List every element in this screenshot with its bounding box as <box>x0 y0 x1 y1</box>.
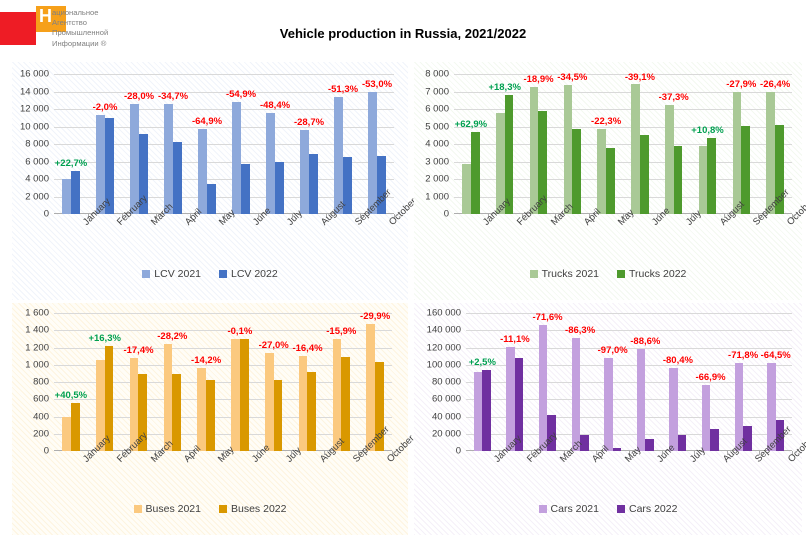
bar-series-2[interactable] <box>645 439 653 451</box>
y-axis-tick-label: 6 000 <box>425 104 449 115</box>
growth-label: -16,4% <box>292 343 322 354</box>
x-axis-tick-label: January <box>81 220 89 228</box>
y-axis-tick-label: 1 400 <box>25 325 49 336</box>
bar-series-1[interactable] <box>733 92 742 214</box>
growth-label: -71,6% <box>532 312 562 323</box>
y-axis-tick-label: 140 000 <box>427 325 461 336</box>
bar-series-1[interactable] <box>334 97 343 214</box>
x-axis-tick-label: April <box>182 457 190 465</box>
growth-label: -14,2% <box>191 355 221 366</box>
bar-series-2[interactable] <box>274 380 283 451</box>
y-axis-tick-label: 2 000 <box>25 191 49 202</box>
x-axis-tick-label: March <box>549 220 557 228</box>
bar-series-1[interactable] <box>530 87 539 214</box>
y-axis-tick-label: 0 <box>444 209 449 220</box>
legend-item[interactable]: Buses 2022 <box>219 503 286 515</box>
x-axis-tick-label: September <box>353 220 361 228</box>
x-axis-tick-label: September <box>351 457 359 465</box>
legend-label: Cars 2022 <box>629 503 677 515</box>
legend-swatch <box>617 270 625 278</box>
y-axis-tick-label: 600 <box>33 394 49 405</box>
growth-label: -11,1% <box>500 334 530 345</box>
bar-group[interactable] <box>727 313 760 451</box>
y-axis-tick-label: 10 000 <box>20 121 49 132</box>
bar-series-2[interactable] <box>71 403 80 451</box>
x-axis-tick-label: June <box>650 220 658 228</box>
bar-series-1[interactable] <box>198 129 207 214</box>
x-axis-tick-label: February <box>525 457 533 465</box>
chart-cars-plot: 020 00040 00060 00080 000100 000120 0001… <box>414 303 802 535</box>
bar-series-2[interactable] <box>640 135 649 214</box>
chart-legend: LCV 2021LCV 2022 <box>12 268 408 280</box>
x-axis-tick-label: July <box>285 220 293 228</box>
x-axis-tick-label: September <box>753 457 761 465</box>
x-axis-tick-label: April <box>582 220 590 228</box>
legend-label: Cars 2021 <box>551 503 599 515</box>
bar-group[interactable] <box>691 74 725 214</box>
bar-group[interactable] <box>454 74 488 214</box>
y-axis-tick-label: 1 600 <box>25 308 49 319</box>
x-axis-tick-label: March <box>149 457 157 465</box>
bar-series-2[interactable] <box>309 154 318 214</box>
bar-series-1[interactable] <box>604 358 612 451</box>
y-axis-tick-label: 14 000 <box>20 86 49 97</box>
y-axis-labels: 020 00040 00060 00080 000100 000120 0001… <box>413 313 461 451</box>
growth-label: +16,3% <box>88 333 121 344</box>
chart-trucks-plot: 01 0002 0003 0004 0005 0006 0007 0008 00… <box>414 62 802 300</box>
bar-series-container: +62,9%+18,3%-18,9%-34,5%-22,3%-39,1%-37,… <box>454 74 792 214</box>
bar-group[interactable] <box>466 313 499 451</box>
bar-series-1[interactable] <box>702 385 710 451</box>
x-axis-tick-label: March <box>558 457 566 465</box>
legend-swatch <box>219 505 227 513</box>
logo-abbr: НАПИ <box>9 2 26 8</box>
bar-series-1[interactable] <box>631 84 640 214</box>
growth-label: +18,3% <box>488 82 521 93</box>
growth-label: -64,5% <box>761 350 791 361</box>
bar-series-1[interactable] <box>197 368 206 451</box>
bar-series-1[interactable] <box>300 130 309 214</box>
legend-item[interactable]: Trucks 2021 <box>530 268 599 280</box>
growth-label: -28,0% <box>124 91 154 102</box>
y-axis-tick-label: 7 000 <box>425 86 449 97</box>
bar-series-2[interactable] <box>613 448 621 451</box>
legend-swatch <box>539 505 547 513</box>
x-axis-tick-label: January <box>481 220 489 228</box>
legend-label: Trucks 2022 <box>629 268 686 280</box>
legend-label: Buses 2022 <box>231 503 286 515</box>
legend-item[interactable]: Trucks 2022 <box>617 268 686 280</box>
growth-label: -66,9% <box>695 372 725 383</box>
growth-label: -27,9% <box>726 79 756 90</box>
bar-group[interactable] <box>555 74 589 214</box>
bar-series-2[interactable] <box>240 339 249 451</box>
growth-label: -0,1% <box>227 326 252 337</box>
y-axis-tick-label: 400 <box>33 411 49 422</box>
growth-label: -80,4% <box>663 355 693 366</box>
legend-label: Buses 2021 <box>146 503 201 515</box>
bar-series-1[interactable] <box>299 356 308 451</box>
x-axis-tick-label: August <box>319 220 327 228</box>
bar-series-container: +2,5%-11,1%-71,6%-86,3%-97,0%-88,6%-80,4… <box>466 313 792 451</box>
bar-series-1[interactable] <box>564 85 573 215</box>
y-axis-labels: 02004006008001 0001 2001 4001 600 <box>11 313 49 451</box>
y-axis-tick-label: 8 000 <box>25 139 49 150</box>
x-axis-tick-label: February <box>115 457 123 465</box>
page-title: Vehicle production in Russia, 2021/2022 <box>0 26 806 41</box>
bar-group[interactable] <box>623 74 657 214</box>
bar-group[interactable] <box>522 74 556 214</box>
x-axis-tick-label: October <box>785 220 793 228</box>
growth-label: +62,9% <box>455 119 488 130</box>
bar-series-1[interactable] <box>164 104 173 214</box>
y-axis-tick-label: 20 000 <box>432 428 461 439</box>
y-axis-tick-label: 800 <box>33 377 49 388</box>
x-axis-tick-label: June <box>655 457 663 465</box>
growth-label: -88,6% <box>630 336 660 347</box>
growth-label: -97,0% <box>598 345 628 356</box>
y-axis-tick-label: 6 000 <box>25 156 49 167</box>
growth-label: -54,9% <box>226 89 256 100</box>
legend-swatch <box>134 505 142 513</box>
growth-label: -2,0% <box>93 102 118 113</box>
bar-group[interactable] <box>531 313 564 451</box>
growth-label: -18,9% <box>523 74 553 85</box>
x-axis-tick-label: July <box>684 220 692 228</box>
bar-series-2[interactable] <box>173 142 182 214</box>
x-axis-tick-label: April <box>590 457 598 465</box>
x-axis-tick-label: February <box>515 220 523 228</box>
growth-label: -22,3% <box>591 116 621 127</box>
x-axis-tick-label: January <box>492 457 500 465</box>
bar-series-1[interactable] <box>231 339 240 451</box>
growth-label: -15,9% <box>326 326 356 337</box>
bar-series-2[interactable] <box>606 148 615 214</box>
x-axis-tick-label: October <box>385 457 393 465</box>
growth-label: -86,3% <box>565 325 595 336</box>
y-axis-tick-label: 12 000 <box>20 104 49 115</box>
y-axis-tick-label: 5 000 <box>425 121 449 132</box>
bar-series-1[interactable] <box>699 146 708 214</box>
legend-item[interactable]: Cars 2021 <box>539 503 599 515</box>
bar-series-2[interactable] <box>707 138 716 214</box>
bar-series-1[interactable] <box>366 324 375 451</box>
bar-series-2[interactable] <box>172 374 181 451</box>
legend-label: LCV 2021 <box>154 268 201 280</box>
y-axis-tick-label: 160 000 <box>427 308 461 319</box>
y-axis-tick-label: 1 000 <box>425 191 449 202</box>
y-axis-tick-label: 0 <box>44 446 49 457</box>
bar-series-1[interactable] <box>669 368 677 451</box>
bar-series-1[interactable] <box>164 344 173 451</box>
bar-group[interactable] <box>88 74 122 214</box>
bar-series-1[interactable] <box>665 105 674 214</box>
growth-label: -64,9% <box>192 116 222 127</box>
bar-series-1[interactable] <box>62 417 71 451</box>
bar-series-1[interactable] <box>474 372 482 451</box>
y-axis-tick-label: 80 000 <box>432 377 461 388</box>
growth-label: -34,7% <box>158 91 188 102</box>
chart-legend: Trucks 2021Trucks 2022 <box>414 268 802 280</box>
bar-series-1[interactable] <box>462 164 471 214</box>
bar-series-1[interactable] <box>597 129 606 214</box>
y-axis-tick-label: 1 000 <box>25 359 49 370</box>
growth-label: -34,5% <box>557 72 587 83</box>
growth-label: -17,4% <box>123 345 153 356</box>
growth-label: +2,5% <box>469 357 496 368</box>
x-axis-tick-label: August <box>721 457 729 465</box>
bar-series-2[interactable] <box>471 132 480 214</box>
y-axis-tick-label: 4 000 <box>425 139 449 150</box>
chart-panel-cars: 020 00040 00060 00080 000100 000120 0001… <box>414 303 802 535</box>
legend-swatch <box>530 270 538 278</box>
growth-label: +22,7% <box>55 158 88 169</box>
bar-series-2[interactable] <box>741 126 750 214</box>
growth-label: -29,9% <box>360 311 390 322</box>
bar-series-1[interactable] <box>266 113 275 214</box>
bar-series-1[interactable] <box>232 102 241 214</box>
bar-group[interactable] <box>596 313 629 451</box>
bar-series-2[interactable] <box>207 184 216 214</box>
bar-series-2[interactable] <box>341 357 350 451</box>
x-axis-tick-label: June <box>250 457 258 465</box>
bar-series-2[interactable] <box>71 171 80 214</box>
y-axis-tick-label: 60 000 <box>432 394 461 405</box>
bar-series-container: +22,7%-2,0%-28,0%-34,7%-64,9%-54,9%-48,4… <box>54 74 394 214</box>
x-axis-tick-label: May <box>616 220 624 228</box>
y-axis-tick-label: 3 000 <box>425 156 449 167</box>
legend-swatch <box>617 505 625 513</box>
logo-text-line-1: ациональное <box>52 8 108 18</box>
bar-series-2[interactable] <box>482 370 490 451</box>
x-axis-tick-label: July <box>688 457 696 465</box>
x-axis-tick-label: May <box>217 220 225 228</box>
x-axis-tick-label: April <box>183 220 191 228</box>
x-axis-tick-label: October <box>387 220 395 228</box>
y-axis-tick-label: 0 <box>44 209 49 220</box>
chart-panel-buses: 02004006008001 0001 2001 4001 600+40,5%+… <box>12 303 408 535</box>
growth-label: +10,8% <box>691 125 724 136</box>
y-axis-tick-label: 1 200 <box>25 342 49 353</box>
legend-swatch <box>219 270 227 278</box>
x-axis-tick-label: March <box>149 220 157 228</box>
bar-series-2[interactable] <box>674 146 683 214</box>
growth-label: +40,5% <box>55 390 88 401</box>
x-axis-tick-label: September <box>751 220 759 228</box>
chart-legend: Buses 2021Buses 2022 <box>12 503 408 515</box>
bar-group[interactable] <box>488 74 522 214</box>
y-axis-labels: 02 0004 0006 0008 00010 00012 00014 0001… <box>11 74 49 214</box>
x-axis-tick-label: May <box>216 457 224 465</box>
bar-group[interactable] <box>258 74 292 214</box>
bar-group[interactable] <box>257 313 291 451</box>
legend-swatch <box>142 270 150 278</box>
y-axis-tick-label: 40 000 <box>432 411 461 422</box>
legend-item[interactable]: LCV 2022 <box>219 268 278 280</box>
bar-series-2[interactable] <box>275 162 284 214</box>
legend-label: Trucks 2021 <box>542 268 599 280</box>
bar-series-1[interactable] <box>539 325 547 451</box>
bar-group[interactable] <box>629 313 662 451</box>
bar-series-1[interactable] <box>62 179 71 214</box>
growth-label: -51,3% <box>328 84 358 95</box>
x-axis-tick-label: August <box>718 220 726 228</box>
legend-item[interactable]: Buses 2021 <box>134 503 201 515</box>
growth-label: -27,0% <box>259 340 289 351</box>
growth-label: -71,8% <box>728 350 758 361</box>
bar-series-1[interactable] <box>265 353 274 451</box>
y-axis-labels: 01 0002 0003 0004 0005 0006 0007 0008 00… <box>413 74 449 214</box>
bar-series-2[interactable] <box>241 164 250 214</box>
legend-item[interactable]: Cars 2022 <box>617 503 677 515</box>
legend-label: LCV 2022 <box>231 268 278 280</box>
chart-lcv-plot: 02 0004 0006 0008 00010 00012 00014 0001… <box>12 62 408 300</box>
y-axis-tick-label: 100 000 <box>427 359 461 370</box>
chart-panel-lcv: 02 0004 0006 0008 00010 00012 00014 0001… <box>12 62 408 300</box>
bar-group[interactable] <box>292 74 326 214</box>
chart-panel-trucks: 01 0002 0003 0004 0005 0006 0007 0008 00… <box>414 62 802 300</box>
bar-group[interactable] <box>54 74 88 214</box>
bar-series-2[interactable] <box>710 429 718 451</box>
chart-legend: Cars 2021Cars 2022 <box>414 503 802 515</box>
growth-label: -28,2% <box>157 331 187 342</box>
bar-series-2[interactable] <box>572 129 581 214</box>
x-axis-tick-label: July <box>284 457 292 465</box>
legend-item[interactable]: LCV 2021 <box>142 268 201 280</box>
y-axis-tick-label: 2 000 <box>425 174 449 185</box>
y-axis-tick-label: 200 <box>33 428 49 439</box>
growth-label: -39,1% <box>625 72 655 83</box>
bar-series-1[interactable] <box>637 349 645 451</box>
bar-group[interactable] <box>122 313 156 451</box>
bar-group[interactable] <box>291 313 325 451</box>
bar-series-1[interactable] <box>572 338 580 451</box>
y-axis-tick-label: 0 <box>456 446 461 457</box>
x-axis-tick-label: January <box>81 457 89 465</box>
bar-series-2[interactable] <box>678 435 686 451</box>
logo-letter: Н <box>39 7 52 25</box>
bar-group[interactable] <box>662 313 695 451</box>
x-axis-tick-label: May <box>623 457 631 465</box>
x-axis-tick-label: February <box>115 220 123 228</box>
growth-label: -28,7% <box>294 117 324 128</box>
growth-label: -48,4% <box>260 100 290 111</box>
bar-series-2[interactable] <box>307 372 316 451</box>
x-axis-tick-label: August <box>318 457 326 465</box>
y-axis-tick-label: 8 000 <box>425 69 449 80</box>
bar-series-1[interactable] <box>333 339 342 451</box>
bar-group[interactable] <box>54 313 88 451</box>
bar-group[interactable] <box>724 74 758 214</box>
chart-buses-plot: 02004006008001 0001 2001 4001 600+40,5%+… <box>12 303 408 535</box>
x-axis-tick-label: June <box>251 220 259 228</box>
growth-label: -37,3% <box>659 92 689 103</box>
bar-group[interactable] <box>190 74 224 214</box>
bar-series-container: +40,5%+16,3%-17,4%-28,2%-14,2%-0,1%-27,0… <box>54 313 392 451</box>
growth-label: -53,0% <box>362 79 392 90</box>
bar-series-2[interactable] <box>206 380 215 451</box>
bar-group[interactable] <box>589 74 623 214</box>
y-axis-tick-label: 16 000 <box>20 69 49 80</box>
y-axis-tick-label: 4 000 <box>25 174 49 185</box>
growth-label: -26,4% <box>760 79 790 90</box>
y-axis-tick-label: 120 000 <box>427 342 461 353</box>
bar-group[interactable] <box>189 313 223 451</box>
x-axis-tick-label: October <box>786 457 794 465</box>
